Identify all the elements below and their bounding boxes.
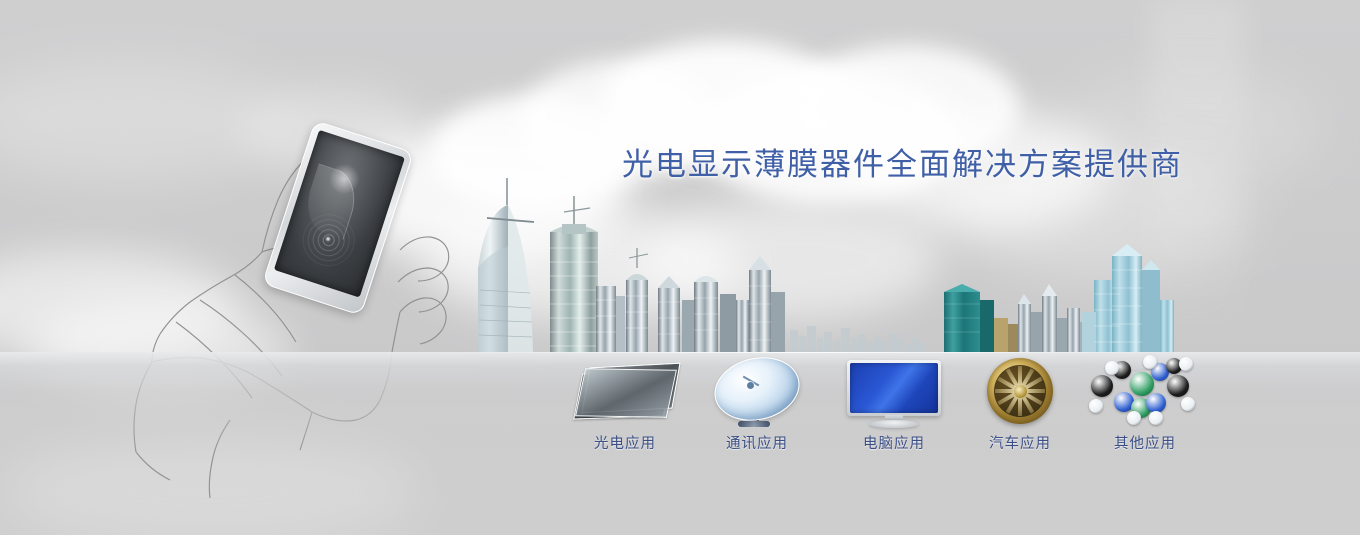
application-item-communication[interactable]: 通讯应用 [692, 352, 822, 453]
smartphone-graphic [262, 120, 414, 316]
molecule-atom-hydrogen [1179, 357, 1193, 371]
phone-screen [274, 130, 405, 298]
application-list: 光电应用 通讯应用 电脑应用 [560, 352, 1210, 467]
hero-banner: 光电显示薄膜器件全面解决方案提供商 光电应用 通讯应用 [0, 0, 1360, 535]
page-title: 光电显示薄膜器件全面解决方案提供商 [622, 139, 1183, 184]
molecule-atom-carbon [1091, 375, 1113, 397]
molecule-atom-carbon [1167, 375, 1189, 397]
application-item-computer[interactable]: 电脑应用 [829, 352, 959, 453]
molecule-atom-nitrogen [1146, 393, 1166, 413]
application-label: 光电应用 [560, 432, 690, 453]
satellite-dish-icon [692, 352, 822, 428]
molecule-atom-hydrogen [1143, 355, 1157, 369]
molecule-atom-hydrogen [1105, 361, 1119, 375]
application-label: 通讯应用 [692, 432, 822, 453]
molecule-atom-hydrogen [1089, 399, 1103, 413]
molecule-atom-metal [1130, 372, 1154, 396]
molecule-atom-hydrogen [1127, 411, 1141, 425]
application-label: 电脑应用 [829, 432, 959, 453]
car-wheel-icon [955, 352, 1085, 428]
application-label: 其他应用 [1080, 432, 1210, 453]
application-item-other[interactable]: 其他应用 [1080, 352, 1210, 453]
molecule-atom-hydrogen [1181, 397, 1195, 411]
molecule-icon [1080, 352, 1210, 428]
application-item-automotive[interactable]: 汽车应用 [955, 352, 1085, 453]
application-item-optoelectronic[interactable]: 光电应用 [560, 352, 690, 453]
molecule-atom-hydrogen [1149, 411, 1163, 425]
computer-monitor-icon [829, 352, 959, 428]
thin-film-panels-icon [560, 352, 690, 428]
application-label: 汽车应用 [955, 432, 1085, 453]
